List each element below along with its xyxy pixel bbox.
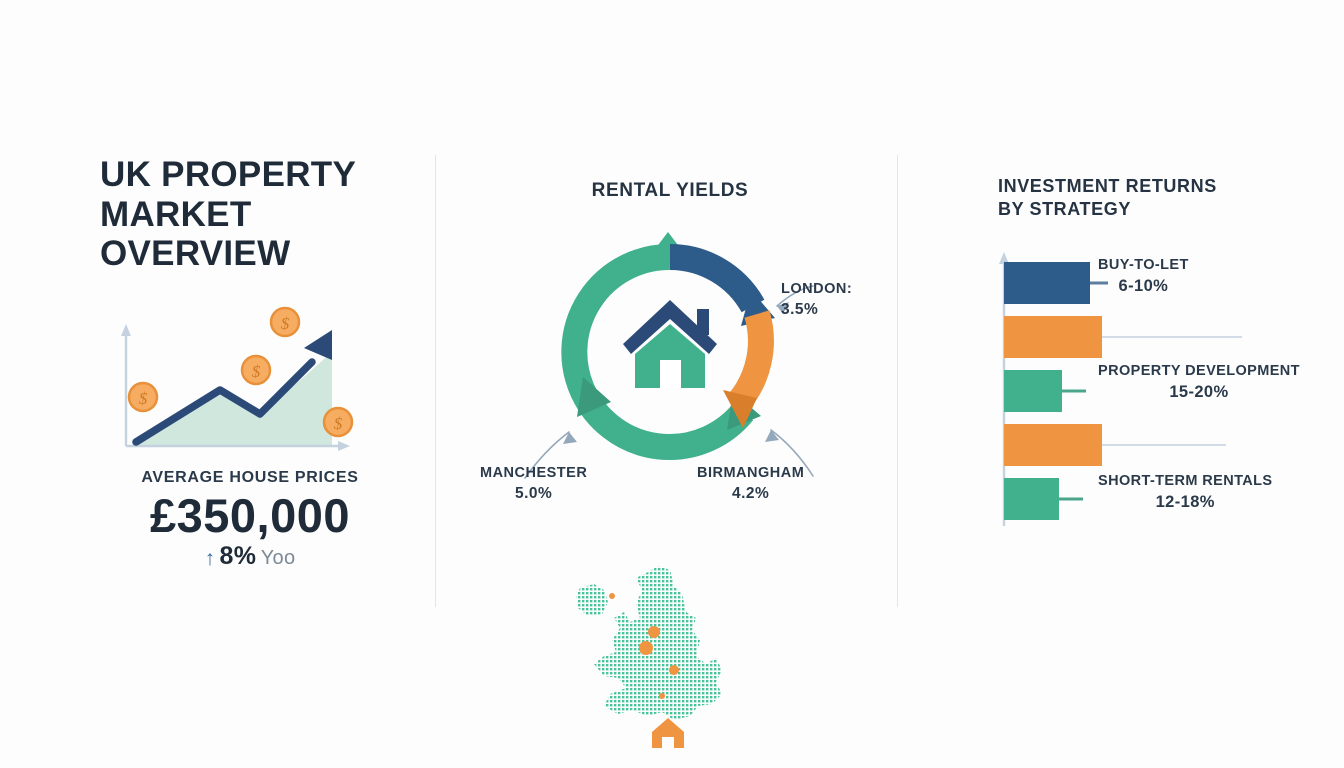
map-marker-london <box>669 665 679 675</box>
bar-label-buy-to-let-text: BUY-TO-LET <box>1098 257 1189 273</box>
donut-label-manchester-text: MANCHESTER <box>480 465 587 481</box>
coin-icon-4: $ <box>324 408 352 436</box>
coin-icon-2: $ <box>242 356 270 384</box>
bar-label-property-development-value: 15-20% <box>1098 381 1300 403</box>
up-arrow-icon: ↑ <box>205 547 216 570</box>
donut-label-manchester-value: 5.0% <box>480 484 587 505</box>
bar-label-short-term-rentals-text: SHORT-TERM RENTALS <box>1098 473 1272 489</box>
investment-returns-title: INVESTMENT RETURNS BY STRATEGY <box>998 175 1318 222</box>
line-chart-svg: $ $ $ $ <box>100 294 360 464</box>
bar-buy-to-let <box>1004 262 1090 304</box>
stat-change-period: Yoo <box>261 547 296 569</box>
svg-text:$: $ <box>252 362 261 381</box>
uk-map-icon <box>570 560 770 750</box>
infographic-canvas: UK PROPERTY MARKET OVERVIEW <box>0 0 1344 768</box>
stat-label: AVERAGE HOUSE PRICES <box>100 469 400 487</box>
bar-unlabeled-2 <box>1004 424 1102 466</box>
page-title-line-3: OVERVIEW <box>100 234 290 273</box>
bar-unlabeled-1 <box>1004 316 1102 358</box>
donut-label-birmangham-value: 4.2% <box>697 484 804 505</box>
donut-label-london: LONDON: 3.5% <box>781 280 852 320</box>
bar-label-property-development-text: PROPERTY DEVELOPMENT <box>1098 363 1300 379</box>
center-panel: RENTAL YIELDS <box>465 180 875 755</box>
left-panel: UK PROPERTY MARKET OVERVIEW <box>100 155 400 587</box>
donut-slice-birmangham <box>737 314 761 404</box>
rental-yields-donut-chart: LONDON: 3.5% MANCHESTER 5.0% BIRMANGHAM … <box>465 202 875 502</box>
coin-icon-3: $ <box>271 308 299 336</box>
page-title-line-1: UK PROPERTY <box>100 155 356 194</box>
stat-change-value: 8% <box>220 542 257 570</box>
bar-short-term-rentals <box>1004 478 1059 520</box>
donut-label-manchester: MANCHESTER 5.0% <box>480 464 587 504</box>
donut-label-london-text: LONDON: <box>781 281 852 297</box>
map-marker-manchester <box>648 626 660 638</box>
map-marker-birmangham <box>639 641 653 655</box>
panel-divider-right <box>897 155 898 607</box>
svg-text:$: $ <box>139 389 148 408</box>
donut-label-birmangham-text: BIRMANGHAM <box>697 465 804 481</box>
rental-yields-title: RENTAL YIELDS <box>465 180 875 202</box>
bar-label-short-term-rentals: SHORT-TERM RENTALS 12-18% <box>1098 472 1272 514</box>
investment-returns-bar-chart: BUY-TO-LET 6-10% PROPERTY DEVELOPMENT 15… <box>998 244 1318 534</box>
donut-slice-london <box>670 257 753 306</box>
page-title: UK PROPERTY MARKET OVERVIEW <box>100 155 400 274</box>
bar-label-buy-to-let-value: 6-10% <box>1098 275 1189 297</box>
house-icon-map <box>652 718 684 748</box>
svg-text:$: $ <box>281 314 290 333</box>
y-axis-arrowhead <box>121 324 131 336</box>
uk-map <box>465 560 875 755</box>
bar-label-buy-to-let: BUY-TO-LET 6-10% <box>1098 256 1189 298</box>
panel-divider-left <box>435 155 436 607</box>
leader-arrowhead-manchester <box>563 432 577 444</box>
average-house-price-stat: AVERAGE HOUSE PRICES £350,000 ↑ 8% Yoo <box>100 469 400 571</box>
bar-label-short-term-rentals-value: 12-18% <box>1098 491 1272 513</box>
svg-text:$: $ <box>334 414 343 433</box>
trend-arrowhead <box>304 330 332 360</box>
investment-returns-title-line-1: INVESTMENT RETURNS <box>998 176 1217 196</box>
bar-property-development <box>1004 370 1062 412</box>
house-price-line-chart: $ $ $ $ <box>100 294 400 469</box>
donut-chart-svg <box>465 202 875 502</box>
map-marker-south <box>659 693 665 699</box>
donut-label-birmangham: BIRMANGHAM 4.2% <box>697 464 804 504</box>
page-title-line-2: MARKET <box>100 195 252 234</box>
donut-label-london-value: 3.5% <box>781 300 852 321</box>
x-axis-arrowhead <box>338 441 350 451</box>
house-icon <box>623 300 717 388</box>
bar-label-property-development: PROPERTY DEVELOPMENT 15-20% <box>1098 362 1300 404</box>
right-panel: INVESTMENT RETURNS BY STRATEGY <box>998 175 1318 534</box>
stat-change: ↑ 8% Yoo <box>100 542 400 571</box>
leader-arrowhead-birmangham <box>765 430 779 442</box>
stat-value: £350,000 <box>100 491 400 540</box>
investment-returns-title-line-2: BY STRATEGY <box>998 199 1131 219</box>
coin-icon-1: $ <box>129 383 157 411</box>
map-marker-belfast <box>609 593 615 599</box>
